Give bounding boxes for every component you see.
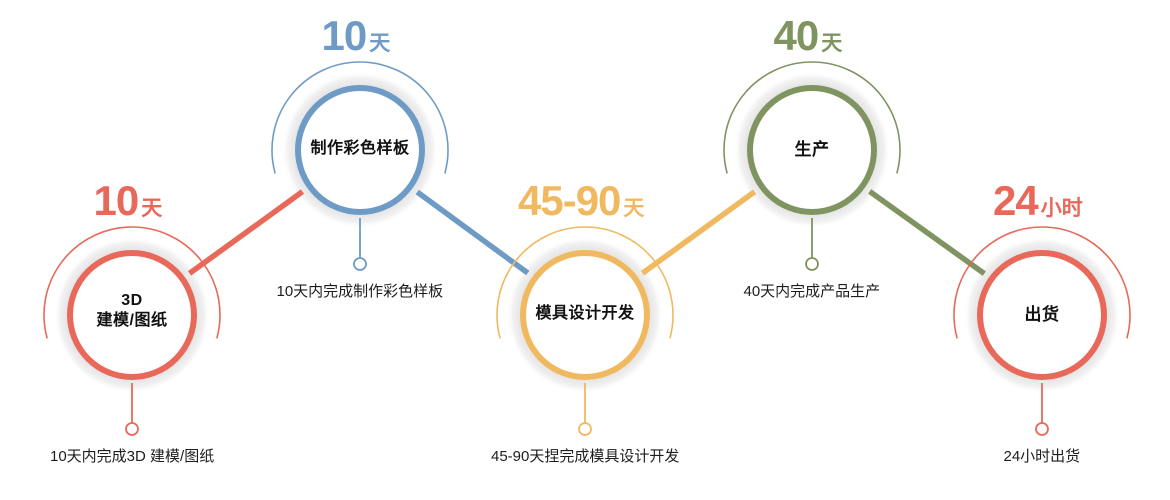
node-ring-blue[interactable]	[298, 88, 422, 212]
node-ring-green[interactable]	[750, 88, 874, 212]
node-caption-node-shipping: 24小时出货	[1004, 445, 1081, 466]
node-caption-node-mold-design: 45-90天捏完成模具设计开发	[491, 445, 679, 466]
node-caption-node-production: 40天内完成产品生产	[744, 280, 881, 301]
node-marker-dot	[1036, 423, 1048, 435]
duration-unit: 天	[623, 197, 644, 220]
ring-layer	[0, 0, 1170, 500]
duration-number: 45-90	[518, 177, 620, 224]
node-marker-dot	[806, 258, 818, 270]
node-marker-dot	[354, 258, 366, 270]
node-caption-node-color-sample: 10天内完成制作彩色样板	[277, 280, 444, 301]
duration-number: 40	[774, 12, 819, 59]
node-marker-dot	[126, 423, 138, 435]
node-ring-red[interactable]	[980, 253, 1104, 377]
duration-unit: 天	[821, 32, 842, 55]
infographic-canvas: 3D建模/图纸10天10天内完成3D 建模/图纸制作彩色样板10天10天内完成制…	[0, 0, 1170, 500]
duration-label-node-shipping: 24小时	[993, 177, 1083, 225]
duration-unit: 天	[369, 32, 390, 55]
node-caption-node-3d-modeling: 10天内完成3D 建模/图纸	[50, 445, 214, 466]
duration-label-node-color-sample: 10天	[322, 12, 391, 60]
node-ring-red[interactable]	[70, 253, 194, 377]
node-marker-dot	[579, 423, 591, 435]
duration-label-node-mold-design: 45-90天	[518, 177, 644, 225]
duration-number: 10	[94, 177, 139, 224]
duration-label-node-production: 40天	[774, 12, 843, 60]
duration-label-node-3d-modeling: 10天	[94, 177, 163, 225]
duration-number: 24	[993, 177, 1038, 224]
node-ring-orange[interactable]	[523, 253, 647, 377]
duration-unit: 小时	[1041, 197, 1083, 220]
duration-unit: 天	[141, 197, 162, 220]
duration-number: 10	[322, 12, 367, 59]
